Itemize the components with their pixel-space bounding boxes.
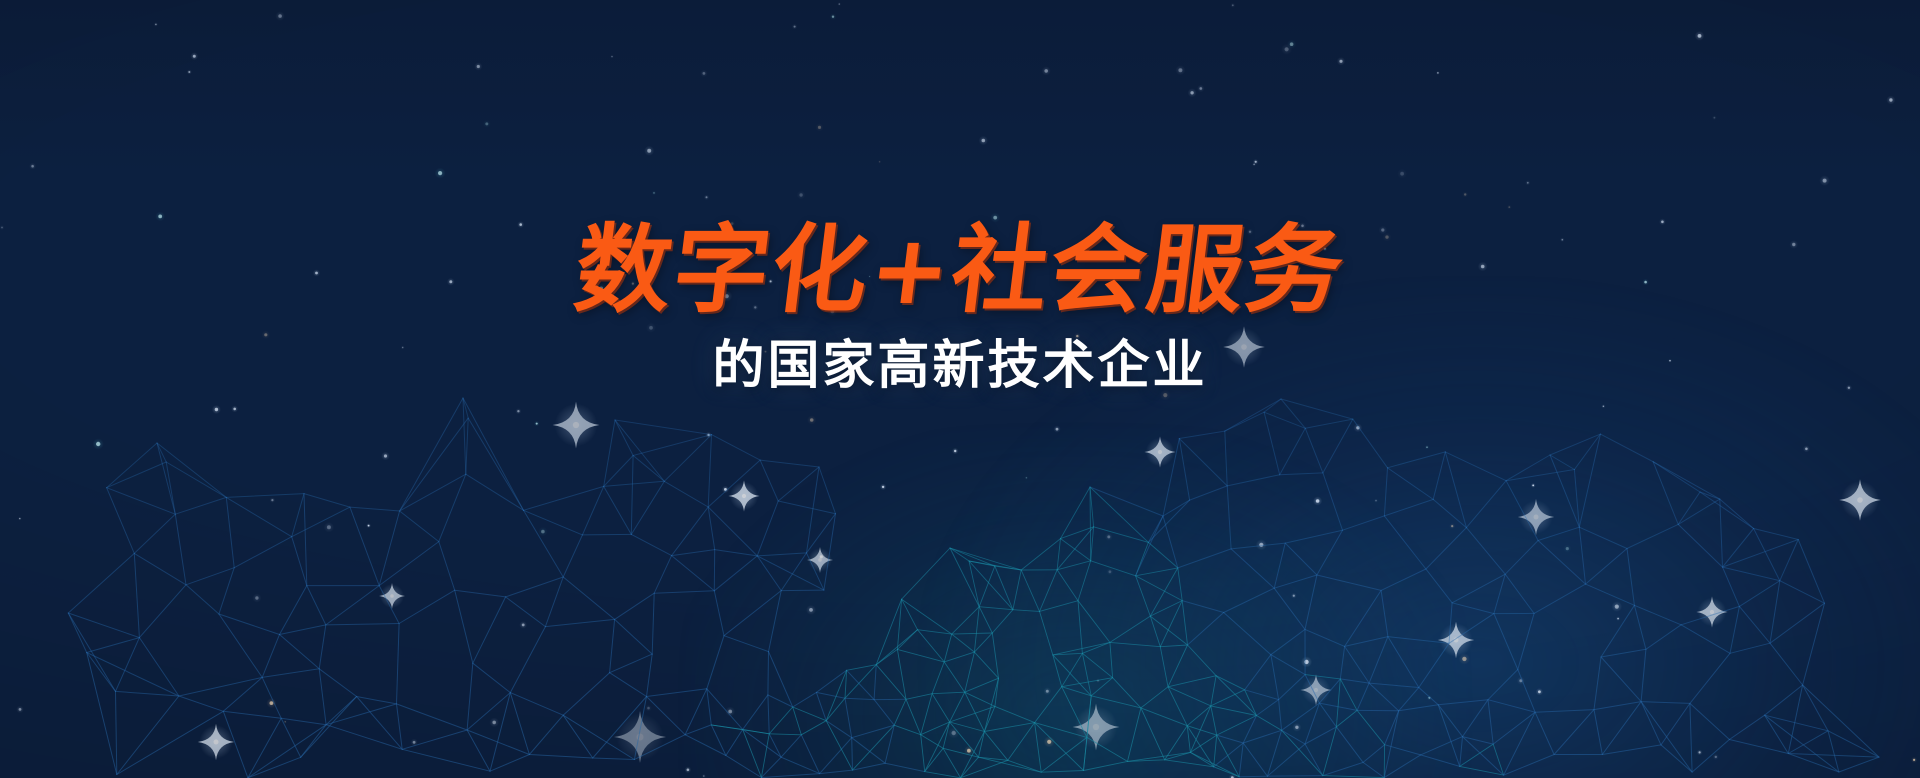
banner-stage: 数字化+社会服务 的国家高新技术企业 bbox=[0, 0, 1920, 778]
page-headline: 数字化+社会服务 bbox=[0, 222, 1920, 318]
page-subheadline: 的国家高新技术企业 bbox=[0, 340, 1920, 392]
